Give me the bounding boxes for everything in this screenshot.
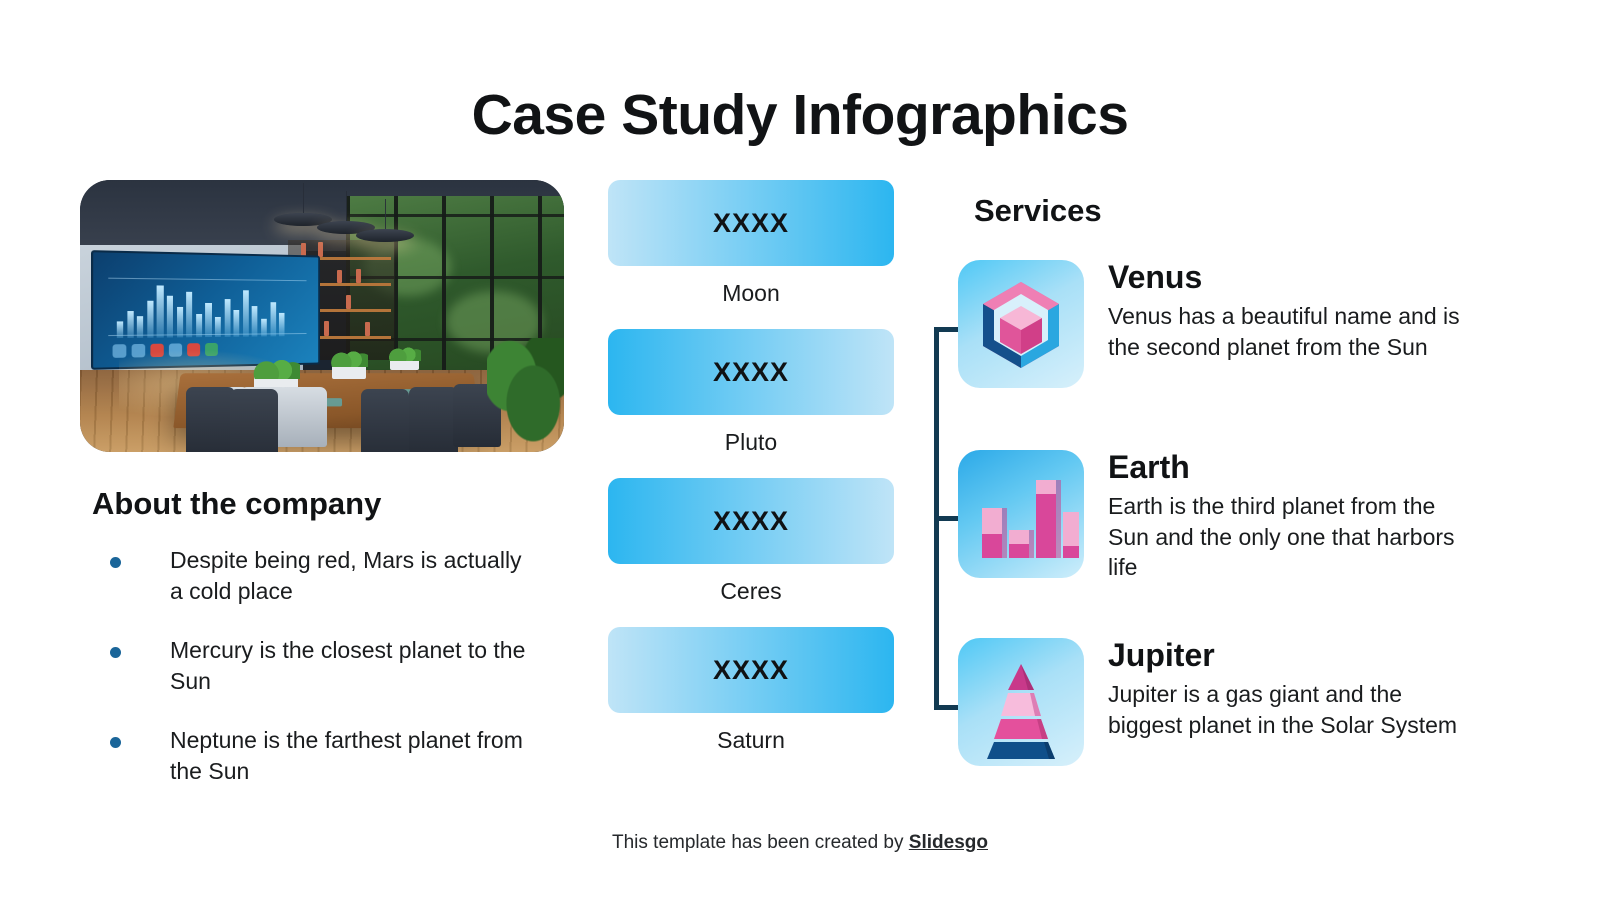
service-text-earth: Earth Earth is the third planet from the…	[1108, 450, 1468, 583]
footer-prefix: This template has been created by	[612, 832, 909, 853]
pyramid-chart-icon	[958, 638, 1084, 766]
about-bullet-text: Despite being red, Mars is actually a co…	[170, 545, 540, 607]
bar-label-moon: Moon	[608, 280, 894, 307]
about-bullet-text: Neptune is the farthest planet from the …	[170, 725, 540, 787]
photo-display-chart	[112, 278, 301, 338]
service-name-earth: Earth	[1108, 450, 1468, 485]
bar-value-saturn: XXXX	[608, 627, 894, 713]
bar-group-saturn: XXXX Saturn	[608, 627, 894, 754]
bar-value-moon: XXXX	[608, 180, 894, 266]
office-meeting-room-photo	[80, 180, 564, 452]
slide-root: Case Study Infographics	[0, 0, 1600, 900]
bar-group-ceres: XXXX Ceres	[608, 478, 894, 605]
list-item: Neptune is the farthest planet from the …	[110, 725, 540, 787]
bullet-icon	[110, 557, 121, 568]
bar-label-saturn: Saturn	[608, 727, 894, 754]
about-bullet-list: Despite being red, Mars is actually a co…	[110, 545, 540, 815]
bar-group-pluto: XXXX Pluto	[608, 329, 894, 456]
about-heading: About the company	[92, 486, 381, 522]
isometric-cube-icon	[958, 260, 1084, 388]
photo-potted-plant	[487, 338, 564, 447]
bullet-icon	[110, 737, 121, 748]
about-bullet-text: Mercury is the closest planet to the Sun	[170, 635, 540, 697]
services-heading: Services	[974, 193, 1102, 229]
service-item-venus[interactable]: Venus Venus has a beautiful name and is …	[958, 260, 1468, 388]
bar-chart-column: XXXX Moon XXXX Pluto XXXX Ceres XXXX Sat…	[608, 180, 894, 776]
service-item-earth[interactable]: Earth Earth is the third planet from the…	[958, 450, 1468, 583]
list-item: Mercury is the closest planet to the Sun	[110, 635, 540, 697]
bullet-icon	[110, 647, 121, 658]
page-title: Case Study Infographics	[0, 82, 1600, 148]
service-name-jupiter: Jupiter	[1108, 638, 1468, 673]
service-name-venus: Venus	[1108, 260, 1468, 295]
bar-value-pluto: XXXX	[608, 329, 894, 415]
bar-group-moon: XXXX Moon	[608, 180, 894, 307]
bar-value-ceres: XXXX	[608, 478, 894, 564]
service-text-venus: Venus Venus has a beautiful name and is …	[1108, 260, 1468, 362]
service-description-venus: Venus has a beautiful name and is the se…	[1108, 301, 1468, 362]
list-item: Despite being red, Mars is actually a co…	[110, 545, 540, 607]
footer-credit: This template has been created by Slides…	[0, 832, 1600, 854]
bar-label-ceres: Ceres	[608, 578, 894, 605]
service-item-jupiter[interactable]: Jupiter Jupiter is a gas giant and the b…	[958, 638, 1468, 766]
service-text-jupiter: Jupiter Jupiter is a gas giant and the b…	[1108, 638, 1468, 740]
service-description-earth: Earth is the third planet from the Sun a…	[1108, 491, 1468, 583]
photo-scene	[80, 180, 564, 452]
footer-brand-link[interactable]: Slidesgo	[909, 832, 988, 853]
service-description-jupiter: Jupiter is a gas giant and the biggest p…	[1108, 679, 1468, 740]
bar-chart-icon	[958, 450, 1084, 578]
bar-label-pluto: Pluto	[608, 429, 894, 456]
